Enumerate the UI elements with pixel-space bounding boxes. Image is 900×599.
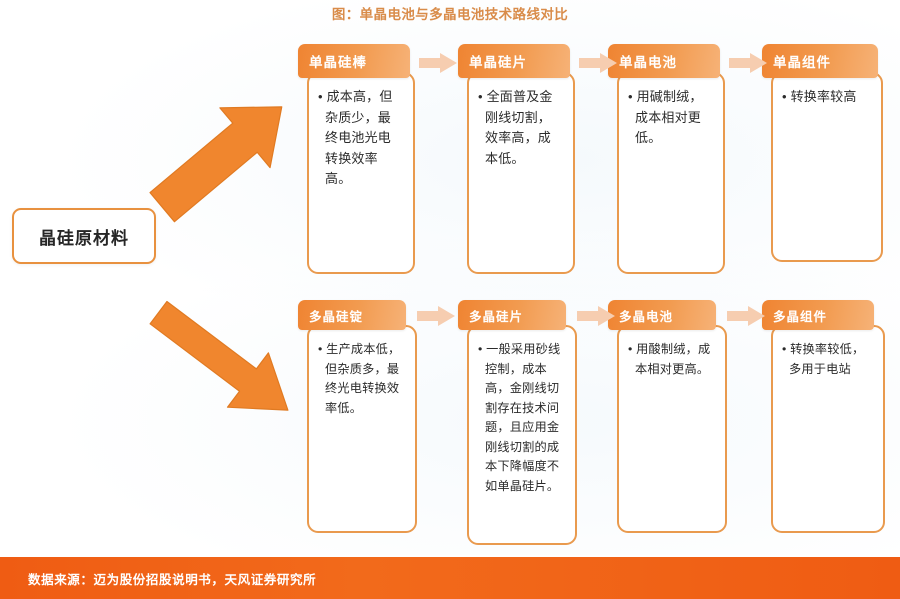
stage-header-label: 多晶组件: [773, 306, 827, 325]
up-right-arrow-icon: [132, 62, 312, 252]
stage-multi-1: 多晶硅锭 生产成本低，但杂质多，最终光电转换效率低。: [298, 300, 420, 545]
stage-header-mono-1: 单晶硅棒: [298, 44, 410, 78]
stage-body-text: 转换率较高: [782, 87, 872, 108]
page-title: 图：单晶电池与多晶电池技术路线对比: [0, 6, 900, 24]
stage-header-label: 多晶硅锭: [309, 306, 363, 325]
stage-body-multi-1: 生产成本低，但杂质多，最终光电转换效率低。: [307, 325, 417, 533]
raw-material-label: 晶硅原材料: [39, 224, 129, 249]
stage-body-mono-4: 转换率较高: [771, 72, 883, 262]
stage-header-label: 单晶硅片: [469, 51, 527, 71]
stage-header-label: 多晶电池: [619, 306, 673, 325]
stage-body-mono-3: 用碱制绒，成本相对更低。: [617, 72, 725, 274]
connector-right-arrow-icon-multi-3: [726, 305, 766, 327]
stage-body-multi-4: 转换率较低，多用于电站: [771, 325, 885, 533]
stage-header-label: 单晶组件: [773, 51, 831, 71]
stage-mono-2: 单晶硅片 全面普及金刚线切割，效率高，成本低。: [458, 44, 580, 274]
stage-body-text: 用酸制绒，成本相对更高。: [628, 340, 716, 379]
stage-body-text: 一般采用砂线控制，成本高，金刚线切割存在技术问题，且应用金刚线切割的成本下降幅度…: [478, 340, 566, 496]
stage-header-mono-3: 单晶电池: [608, 44, 720, 78]
stage-header-mono-4: 单晶组件: [762, 44, 878, 78]
down-right-arrow-icon: [132, 292, 317, 432]
stage-multi-2: 多晶硅片 一般采用砂线控制，成本高，金刚线切割存在技术问题，且应用金刚线切割的成…: [458, 300, 580, 545]
stage-header-label: 单晶电池: [619, 51, 677, 71]
connector-right-arrow-icon-multi-1: [416, 305, 456, 327]
stage-mono-4: 单晶组件 转换率较高: [762, 44, 888, 274]
stage-body-text: 成本高，但杂质少，最终电池光电转换效率高。: [318, 87, 404, 190]
connector-right-arrow-icon-multi-2: [576, 305, 616, 327]
stage-header-mono-2: 单晶硅片: [458, 44, 570, 78]
stage-header-multi-3: 多晶电池: [608, 300, 716, 330]
stage-body-text: 转换率较低，多用于电站: [782, 340, 874, 379]
stage-header-multi-4: 多晶组件: [762, 300, 874, 330]
stage-body-multi-2: 一般采用砂线控制，成本高，金刚线切割存在技术问题，且应用金刚线切割的成本下降幅度…: [467, 325, 577, 545]
stage-multi-3: 多晶电池 用酸制绒，成本相对更高。: [608, 300, 730, 545]
connector-right-arrow-icon-mono-2: [578, 52, 618, 74]
stage-header-label: 多晶硅片: [469, 306, 523, 325]
stage-multi-4: 多晶组件 转换率较低，多用于电站: [762, 300, 888, 545]
footer-source-text: 数据来源：迈为股份招股说明书，天风证券研究所: [0, 569, 316, 588]
stage-body-multi-3: 用酸制绒，成本相对更高。: [617, 325, 727, 533]
stage-body-text: 生产成本低，但杂质多，最终光电转换效率低。: [318, 340, 406, 418]
stage-header-multi-1: 多晶硅锭: [298, 300, 406, 330]
stage-mono-3: 单晶电池 用碱制绒，成本相对更低。: [608, 44, 730, 274]
connector-right-arrow-icon-mono-3: [728, 52, 768, 74]
connector-right-arrow-icon-mono-1: [418, 52, 458, 74]
stage-body-mono-2: 全面普及金刚线切割，效率高，成本低。: [467, 72, 575, 274]
stage-header-label: 单晶硅棒: [309, 51, 367, 71]
stage-mono-1: 单晶硅棒 成本高，但杂质少，最终电池光电转换效率高。: [298, 44, 420, 274]
diagram-canvas: 图：单晶电池与多晶电池技术路线对比 晶硅原材料 单晶硅棒 成本高，但杂质少，最终…: [0, 0, 900, 599]
stage-body-mono-1: 成本高，但杂质少，最终电池光电转换效率高。: [307, 72, 415, 274]
stage-header-multi-2: 多晶硅片: [458, 300, 566, 330]
stage-body-text: 用碱制绒，成本相对更低。: [628, 87, 714, 149]
stage-body-text: 全面普及金刚线切割，效率高，成本低。: [478, 87, 564, 169]
footer-bar: 数据来源：迈为股份招股说明书，天风证券研究所: [0, 557, 900, 599]
